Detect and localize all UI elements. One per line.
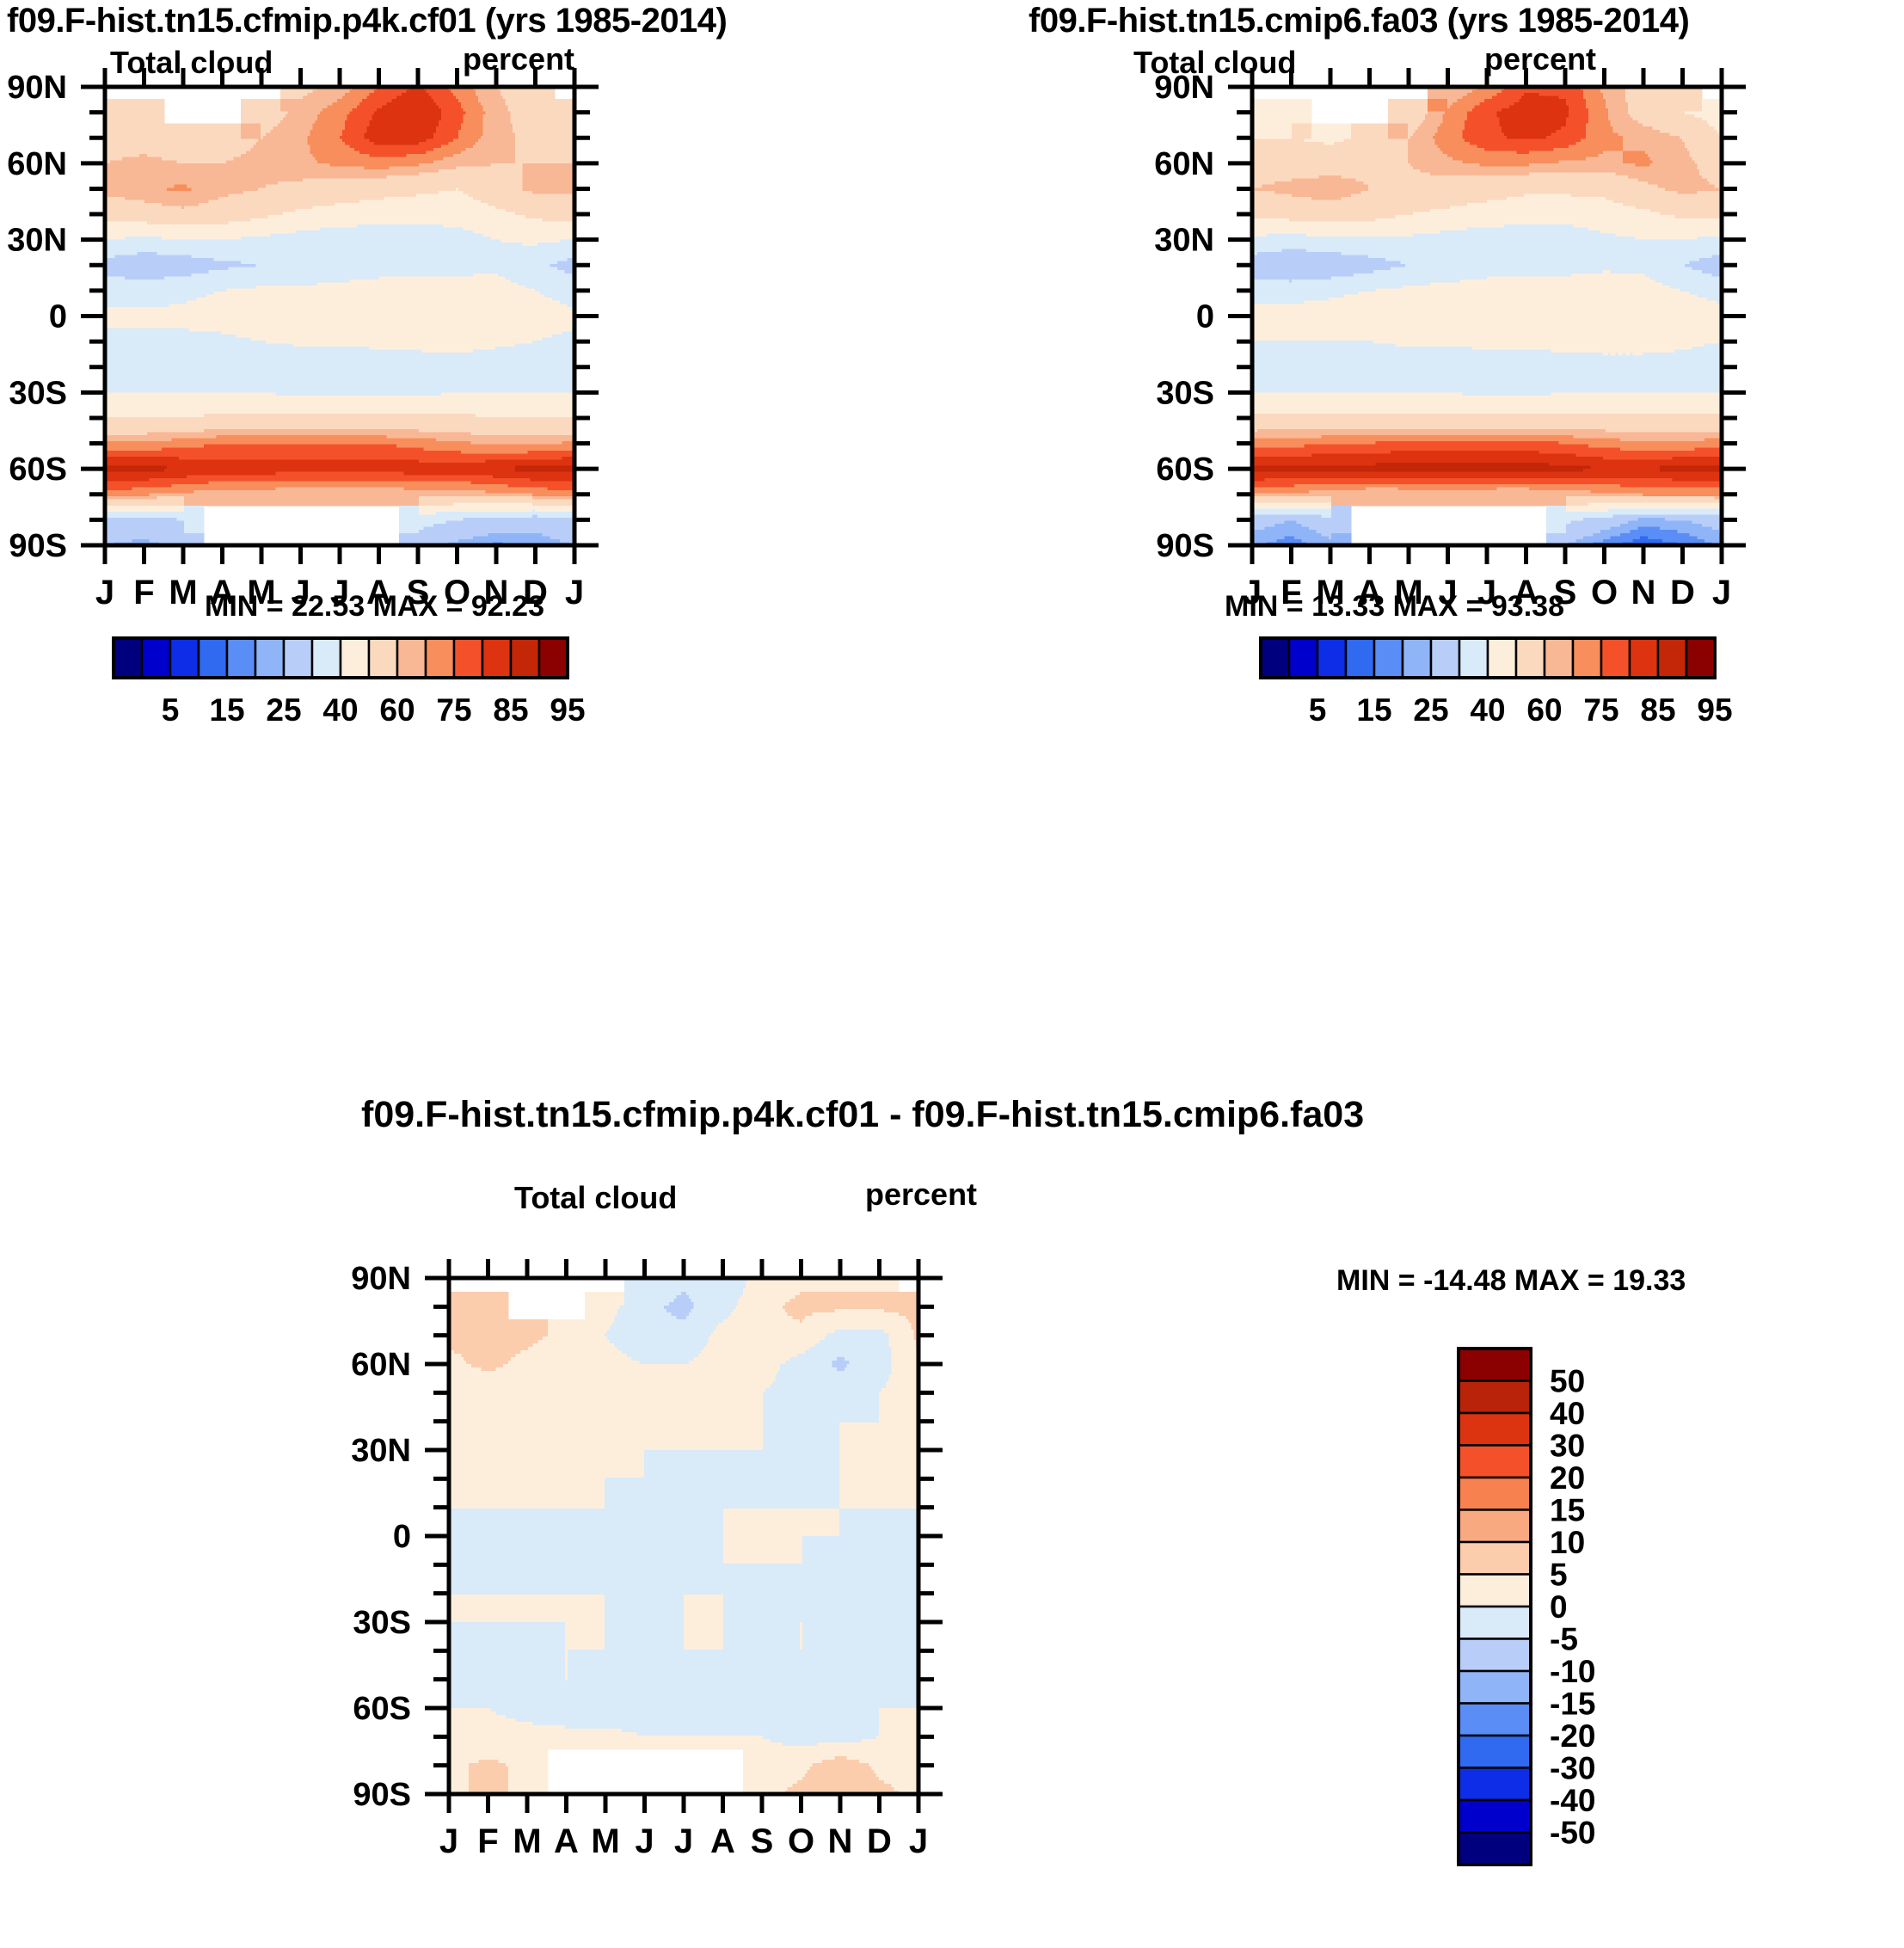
plot-top-right: JFMAMJJASONDJ90N60N30N030S60S90S [1022,0,1675,602]
x-tick-label: A [554,1822,579,1860]
colorbar-tick-label: 25 [1413,692,1448,728]
colorbar-tick-label: -30 [1550,1751,1595,1786]
y-tick-label: 90N [1154,70,1214,106]
colorbar-cell [1459,1736,1531,1768]
figure-canvas: f09.F-hist.tn15.cfmip.p4k.cf01 (yrs 1985… [0,0,1904,1948]
colorbar-tick-label: 5 [1550,1558,1568,1593]
colorbar-tick-label: 25 [266,692,301,728]
y-tick-label: 30N [351,1433,411,1469]
colorbar-tick-label: 20 [1550,1460,1585,1496]
x-tick-label: O [788,1822,814,1860]
colorbar-cell [1686,638,1715,678]
y-tick-label: 30S [9,375,67,411]
colorbar-cell [1459,1768,1531,1801]
colorbar-tick-label: 15 [209,692,244,728]
colorbar-cell [1459,1349,1531,1381]
colorbar-cell [1516,638,1545,678]
x-tick-label: F [477,1822,498,1860]
colorbar-cell [1488,638,1516,678]
colorbar-tick-label: 15 [1356,692,1391,728]
colorbar-tick-label: 75 [1583,692,1618,728]
colorbar-tick-label: 60 [379,692,415,728]
colorbar-cell [454,638,482,678]
colorbar-cell [1459,1607,1531,1639]
y-tick-label: 90S [353,1777,411,1813]
x-tick-label: N [1631,574,1656,611]
x-tick-label: S [751,1822,774,1860]
colorbar-cell [1459,1639,1531,1672]
y-tick-label: 60N [7,146,67,182]
colorbar-difference[interactable]: 50403020151050-5-10-15-20-30-40-50 [1453,1342,1729,1892]
colorbar-tick-label: 0 [1550,1589,1568,1625]
colorbar-tick-label: 5 [162,692,180,728]
colorbar-tick-label: 40 [322,692,358,728]
colorbar-cell [1459,1446,1531,1478]
colorbar-cell [1658,638,1686,678]
colorbar-tick-label: 30 [1550,1429,1585,1464]
colorbar-cell [1459,1671,1531,1704]
colorbar-cell [1431,638,1459,678]
colorbar-tick-label: 40 [1470,692,1505,728]
colorbar-tick-label: 85 [493,692,528,728]
colorbar-cell [369,638,397,678]
colorbar-cell [142,638,170,678]
colorbar-cell [1601,638,1630,678]
colorbar-cell [312,638,341,678]
colorbar-tick-label: 95 [1697,692,1732,728]
colorbar-cell [255,638,284,678]
x-tick-label: A [710,1822,735,1860]
y-tick-label: 60N [351,1347,411,1383]
colorbar-tick-label: -50 [1550,1816,1595,1851]
var-label-difference: Total cloud [514,1180,677,1216]
colorbar-cell [1459,1575,1531,1607]
colorbar-cell [170,638,199,678]
colorbar-cell [284,638,312,678]
colorbar-cell [1261,638,1289,678]
x-tick-label: F [133,574,154,611]
y-tick-label: 90N [351,1261,411,1297]
colorbar-tick-label: 10 [1550,1525,1585,1560]
y-tick-label: 90S [9,528,67,564]
colorbar-tick-label: 40 [1550,1396,1585,1431]
y-tick-label: 60N [1154,146,1214,182]
colorbar-tick-label: 60 [1526,692,1562,728]
plot-difference: JFMAMJJASONDJ90N60N30N030S60S90S [404,1213,1058,1892]
colorbar-tick-label: 5 [1309,692,1327,728]
colorbar-tick-label: -20 [1550,1718,1595,1754]
colorbar-cell [1289,638,1317,678]
colorbar-tick-label: -10 [1550,1654,1595,1689]
colorbar-tick-label: 75 [436,692,471,728]
y-tick-label: 0 [1196,299,1214,335]
x-tick-label: M [169,574,197,611]
colorbar-cell [341,638,369,678]
colorbar-tick-label: 95 [550,692,585,728]
x-tick-label: N [828,1822,853,1860]
colorbar-cell [114,638,142,678]
y-tick-label: 0 [49,299,67,335]
colorbar-cell [1459,1704,1531,1736]
x-tick-label: J [439,1822,458,1860]
minmax-top-left: MIN = 22.53 MAX = 92.23 [205,590,544,624]
minmax-top-right: MIN = 13.33 MAX = 93.38 [1225,590,1564,624]
colorbar-cell [1317,638,1346,678]
colorbar-cell [1630,638,1658,678]
colorbar-tick-label: 85 [1640,692,1675,728]
x-tick-label: J [565,574,584,611]
x-tick-label: M [591,1822,619,1860]
y-tick-label: 90S [1156,528,1214,564]
colorbar-cell [1459,1478,1531,1510]
y-tick-label: 90N [7,70,67,106]
y-tick-label: 0 [393,1519,411,1555]
colorbar-tick-label: 50 [1550,1364,1585,1399]
x-tick-label: J [1712,574,1731,611]
colorbar-cell [1459,638,1488,678]
colorbar-cell [1459,1510,1531,1543]
x-tick-label: D [867,1822,892,1860]
colorbar-cell [227,638,255,678]
y-tick-label: 30S [353,1605,411,1641]
y-tick-label: 30N [1154,223,1214,259]
colorbar-cell [1459,1381,1531,1414]
minmax-difference: MIN = -14.48 MAX = 19.33 [1336,1264,1686,1298]
colorbar-cell [199,638,227,678]
y-tick-label: 60S [353,1691,411,1727]
x-tick-label: J [95,574,114,611]
x-tick-label: O [1591,574,1618,611]
x-tick-label: J [635,1822,654,1860]
colorbar-cell [539,638,568,678]
y-tick-label: 30N [7,223,67,259]
colorbar-cell [482,638,511,678]
x-tick-label: D [1670,574,1695,611]
colorbar-cell [1573,638,1601,678]
colorbar-cell [1459,1800,1531,1833]
colorbar-tick-label: 15 [1550,1493,1585,1528]
y-tick-label: 60S [9,452,67,488]
y-tick-label: 60S [1156,452,1214,488]
colorbar-tick-label: -40 [1550,1783,1595,1818]
colorbar-cell [426,638,454,678]
colorbar-cell [1459,1413,1531,1446]
x-tick-label: J [909,1822,928,1860]
unit-label-difference: percent [865,1177,977,1213]
plot-top-left: JFMAMJJASONDJ90N60N30N030S60S90S [0,0,654,602]
x-tick-label: J [674,1822,693,1860]
colorbar-cell [1403,638,1431,678]
colorbar-tick-label: -15 [1550,1687,1595,1722]
x-tick-label: M [513,1822,541,1860]
colorbar-cell [1459,1833,1531,1865]
colorbar-cell [1346,638,1374,678]
y-tick-label: 30S [1156,375,1214,411]
colorbar-cell [511,638,539,678]
colorbar-cell [397,638,426,678]
colorbar-cell [1374,638,1403,678]
colorbar-tick-label: -5 [1550,1622,1578,1657]
panel-title-difference: f09.F-hist.tn15.cfmip.p4k.cf01 - f09.F-h… [361,1094,1364,1136]
colorbar-cell [1459,1542,1531,1575]
colorbar-cell [1545,638,1573,678]
